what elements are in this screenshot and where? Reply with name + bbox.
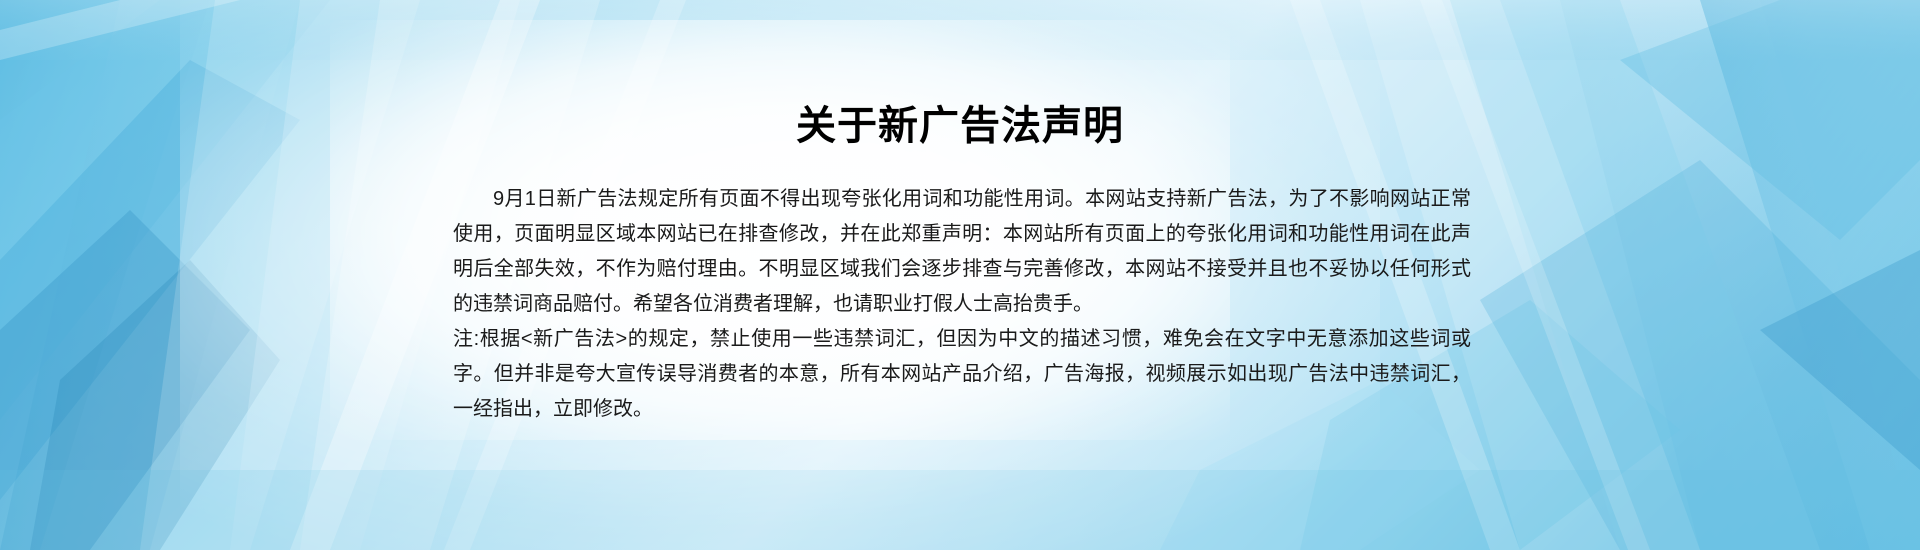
statement-content: 关于新广告法声明 9月1日新广告法规定所有页面不得出现夸张化用词和功能性用词。本…	[0, 0, 1920, 550]
advertising-law-statement-banner: 关于新广告法声明 9月1日新广告法规定所有页面不得出现夸张化用词和功能性用词。本…	[0, 0, 1920, 550]
statement-paragraph-1: 9月1日新广告法规定所有页面不得出现夸张化用词和功能性用词。本网站支持新广告法，…	[453, 182, 1471, 322]
page-title: 关于新广告法声明	[460, 104, 1460, 148]
statement-body: 9月1日新广告法规定所有页面不得出现夸张化用词和功能性用词。本网站支持新广告法，…	[453, 182, 1471, 427]
statement-paragraph-2: 注:根据<新广告法>的规定，禁止使用一些违禁词汇，但因为中文的描述习惯，难免会在…	[453, 322, 1471, 427]
